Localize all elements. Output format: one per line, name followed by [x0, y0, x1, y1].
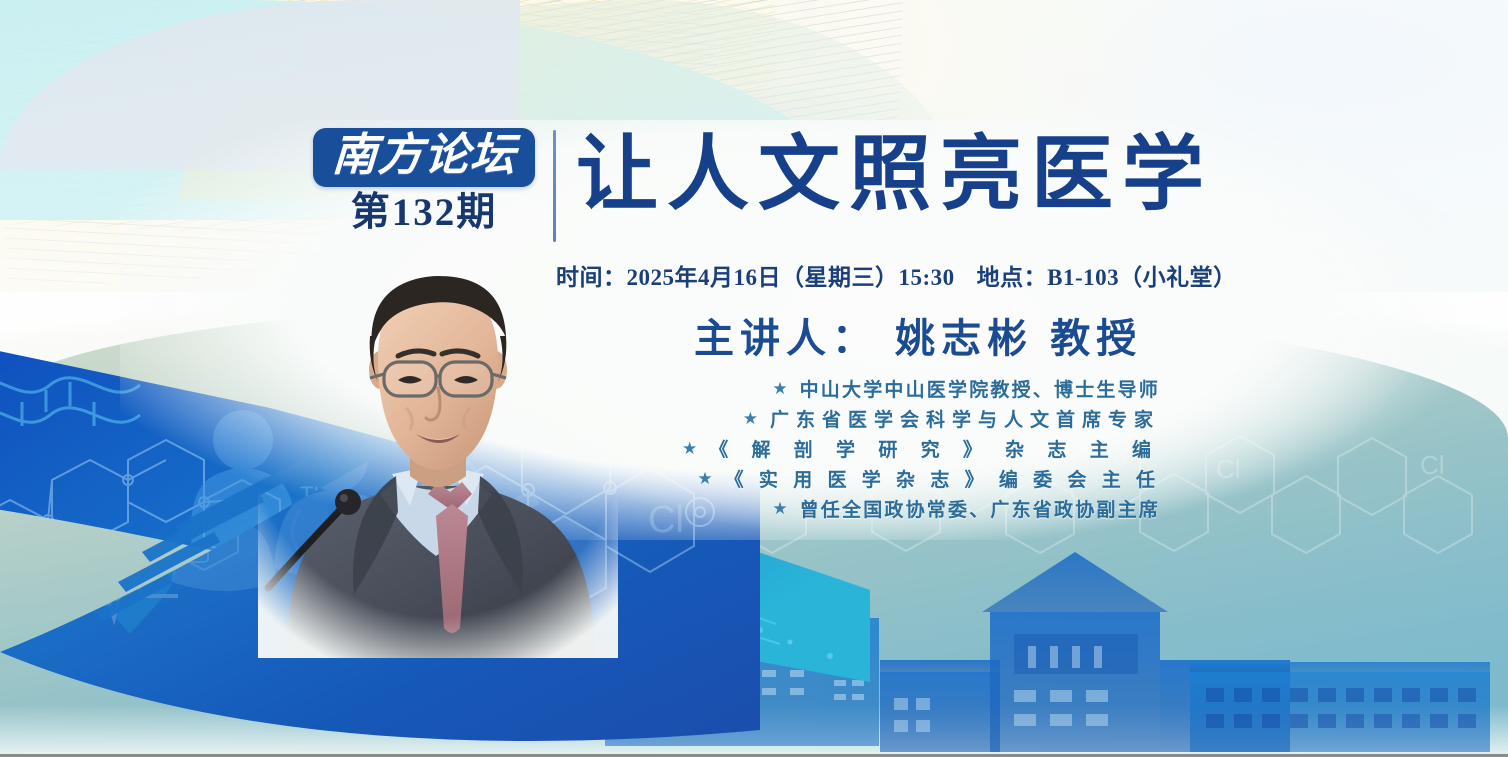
star-icon: ★	[682, 440, 697, 457]
credential-text: 曾任全国政协常委、广东省政协副主席	[800, 495, 1160, 522]
star-icon: ★	[772, 500, 787, 517]
place-label: 地点：	[977, 265, 1048, 290]
star-icon: ★	[697, 470, 712, 487]
event-meta-line: 时间：2025年4月16日（星期三）15:30地点：B1-103（小礼堂）	[556, 258, 1237, 292]
list-item: ★ 《 实 用 医 学 杂 志 》 编 委 会 主 任	[660, 463, 1160, 493]
title-divider	[553, 130, 556, 242]
credential-text: 广东省医学会科学与人文首席专家	[770, 405, 1160, 432]
page-title: 让人文照亮医学	[576, 131, 1213, 220]
time-value: 2025年4月16日（星期三）15:30	[627, 265, 955, 290]
star-icon: ★	[772, 380, 787, 397]
credential-text: 《 解 剖 学 研 究 》 杂 志 主 编	[709, 435, 1160, 462]
poster-canvas: Cl Cl Cl	[0, 0, 1508, 757]
forum-logo-badge: 南方论坛	[313, 128, 535, 187]
list-item: ★ 中山大学中山医学院教授、博士生导师	[660, 373, 1160, 403]
list-item: ★ 广东省医学会科学与人文首席专家	[660, 403, 1160, 433]
speaker-name-line: 主讲人： 姚志彬 教授	[694, 306, 1142, 364]
forum-logo-block: 南方论坛 第132期	[313, 128, 535, 232]
credential-text: 中山大学中山医学院教授、博士生导师	[800, 375, 1160, 402]
list-item: ★ 《 解 剖 学 研 究 》 杂 志 主 编	[660, 433, 1160, 463]
credential-text: 《 实 用 医 学 杂 志 》 编 委 会 主 任	[725, 465, 1160, 492]
star-icon: ★	[743, 410, 758, 427]
forum-issue-number: 第132期	[313, 193, 535, 232]
place-value: B1-103（小礼堂）	[1047, 265, 1237, 290]
time-label: 时间：	[556, 265, 627, 290]
list-item: ★ 曾任全国政协常委、广东省政协副主席	[660, 493, 1160, 523]
speaker-credentials-list: ★ 中山大学中山医学院教授、博士生导师 ★ 广东省医学会科学与人文首席专家 ★ …	[660, 373, 1160, 523]
forum-logo-badge-text: 南方论坛	[324, 133, 524, 179]
